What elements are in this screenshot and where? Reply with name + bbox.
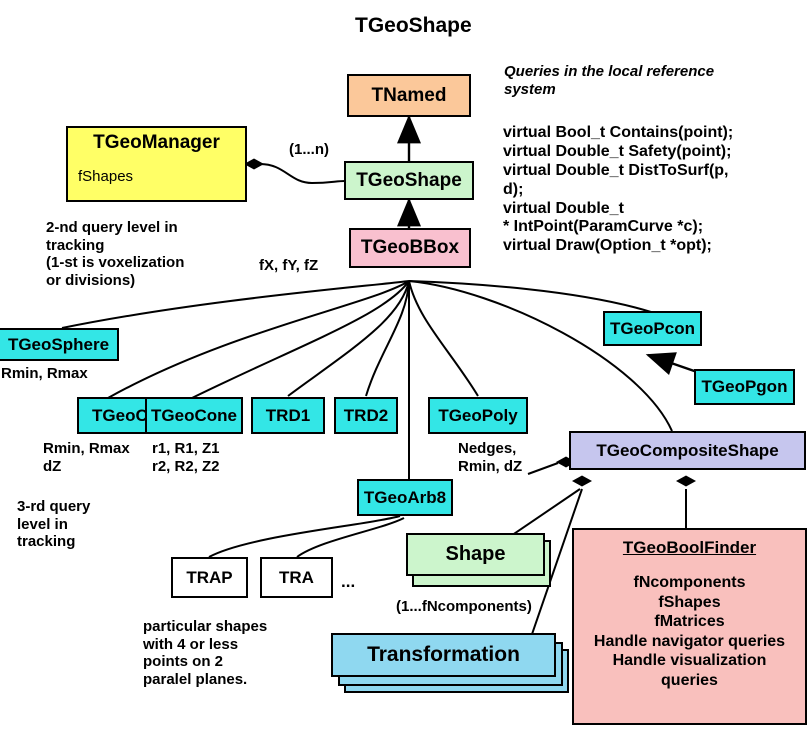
- particular-shapes-note: particular shapes with 4 or less points …: [143, 618, 267, 689]
- class-box-trap[interactable]: TRAP: [171, 557, 248, 598]
- class-label-trd2: TRD2: [344, 406, 388, 426]
- class-label-tgeocone: TGeoCone: [151, 406, 237, 426]
- class-box-transformation[interactable]: Transformation: [331, 633, 556, 677]
- queries-panel-heading: Queries in the local reference system: [504, 63, 714, 98]
- class-label-tgeobbox: TGeoBBox: [361, 237, 459, 259]
- class-label-transformation: Transformation: [367, 643, 520, 667]
- class-box-tgeopgon[interactable]: TGeoPgon: [694, 369, 795, 405]
- multiplicity-shapes-label: (1...n): [289, 141, 329, 159]
- class-box-tgeocone[interactable]: TGeoCone: [145, 397, 243, 434]
- multiplicity-components-label: (1...fNcomponents): [396, 598, 532, 616]
- class-box-tgeocompositeshape[interactable]: TGeoCompositeShape: [569, 431, 806, 470]
- class-field-fshapes: fShapes: [78, 168, 133, 185]
- class-box-tgeoarb8[interactable]: TGeoArb8: [357, 479, 453, 516]
- class-label-tgeoboolfinder: TGeoBoolFinder: [623, 538, 756, 558]
- bbox-fields-label: fX, fY, fZ: [259, 257, 318, 275]
- class-label-shape: Shape: [445, 543, 505, 566]
- class-label-tgeopoly: TGeoPoly: [438, 406, 517, 426]
- class-label-tgeocompositeshape: TGeoCompositeShape: [596, 441, 778, 461]
- query-level-3-note: 3-rd query level in tracking: [17, 498, 90, 551]
- queries-panel-methods: virtual Bool_t Contains(point); virtual …: [503, 124, 733, 256]
- class-box-tgeopoly[interactable]: TGeoPoly: [428, 397, 528, 434]
- query-level-2-note: 2-nd query level in tracking (1-st is vo…: [46, 219, 184, 290]
- class-label-tnamed: TNamed: [372, 85, 447, 107]
- class-box-tra[interactable]: TRA: [260, 557, 333, 598]
- tgeoboolfinder-body: fNcomponents fShapes fMatrices Handle na…: [594, 573, 785, 690]
- sphere-params-label: Rmin, Rmax: [1, 365, 88, 383]
- cyl-params-label: Rmin, Rmax dZ: [43, 440, 130, 475]
- class-label-tgeosphere: TGeoSphere: [8, 335, 109, 355]
- class-box-tgeomanager[interactable]: TGeoManager fShapes: [66, 126, 247, 202]
- class-box-trd1[interactable]: TRD1: [251, 397, 325, 434]
- page-title: TGeoShape: [355, 14, 472, 38]
- poly-params-label: Nedges, Rmin, dZ: [458, 440, 522, 475]
- class-box-tgeosphere[interactable]: TGeoSphere: [0, 328, 119, 361]
- class-label-tgeopcon: TGeoPcon: [610, 319, 695, 339]
- class-label-tgeoarb8: TGeoArb8: [364, 488, 446, 508]
- class-label-tra: TRA: [279, 568, 314, 588]
- cone-params-label: r1, R1, Z1 r2, R2, Z2: [152, 440, 220, 475]
- class-box-shape[interactable]: Shape: [406, 533, 545, 576]
- class-label-trap: TRAP: [186, 568, 232, 588]
- class-box-tgeoshape[interactable]: TGeoShape: [344, 161, 474, 200]
- diagram-canvas: TGeoShape TNamed TGeoManager fShapes TGe…: [0, 0, 810, 735]
- class-label-tgeoshape: TGeoShape: [356, 170, 462, 192]
- class-box-trd2[interactable]: TRD2: [334, 397, 398, 434]
- class-box-tgeobbox[interactable]: TGeoBBox: [349, 228, 471, 268]
- class-label-tgeopgon: TGeoPgon: [702, 377, 788, 397]
- class-label-tgeomanager: TGeoManager: [93, 132, 220, 154]
- class-box-tgeopcon[interactable]: TGeoPcon: [603, 311, 702, 346]
- ellipsis-after-tra: ...: [341, 572, 355, 592]
- class-box-tnamed[interactable]: TNamed: [347, 74, 471, 117]
- class-label-trd1: TRD1: [266, 406, 310, 426]
- class-box-tgeoboolfinder[interactable]: TGeoBoolFinder fNcomponents fShapes fMat…: [572, 528, 807, 725]
